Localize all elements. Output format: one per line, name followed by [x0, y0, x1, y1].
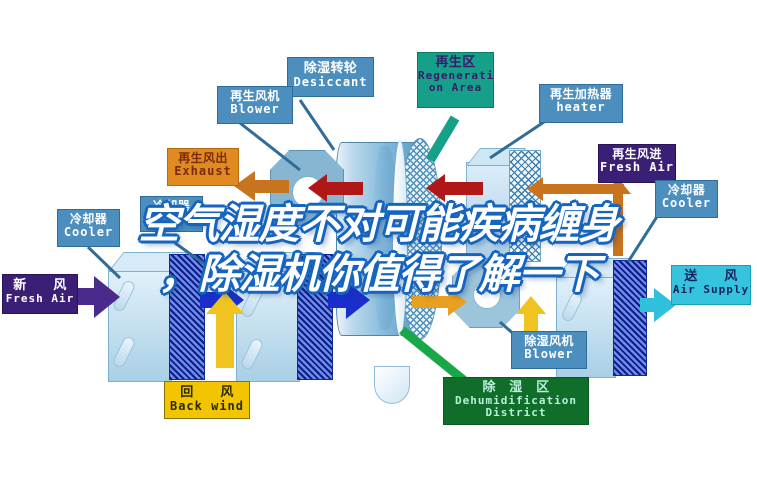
label-regen-exhaust-cn: 再生风出	[168, 152, 238, 165]
label-regen-heater: 再生加热器 heater	[539, 84, 623, 123]
label-regeneration-area: 再生区 Regenerati on Area	[417, 52, 494, 108]
leader-desiccant	[300, 100, 334, 150]
label-dehumid-blower-en: Blower	[512, 348, 586, 361]
label-back-wind: 回 风 Back wind	[164, 381, 250, 419]
caption-line-1: 空气湿度不对可能疾病缠身	[0, 199, 757, 249]
label-desiccant: 除湿转轮 Desiccant	[287, 57, 374, 97]
leader-regen-area	[430, 118, 455, 160]
dehumidifier-diagram-image: 除湿转轮 Desiccant 再生风机 Blower 再生区 Regenerat…	[0, 0, 757, 488]
condensate-drop-icon	[374, 366, 410, 404]
label-dehumid-blower-cn: 除湿风机	[512, 335, 586, 348]
label-regeneration-area-en-line2: on Area	[418, 82, 493, 94]
label-regeneration-area-cn: 再生区	[418, 55, 493, 70]
label-regen-fresh-air-en: Fresh Air	[599, 161, 675, 174]
label-dehumidification-district-en-line1: Dehumidification	[444, 395, 588, 407]
label-regen-blower-cn: 再生风机	[218, 90, 292, 103]
label-regen-heater-cn: 再生加热器	[540, 88, 622, 101]
label-dehumid-blower: 除湿风机 Blower	[511, 331, 587, 369]
label-dehumidification-district-cn: 除 湿 区	[444, 380, 588, 395]
label-back-wind-en: Back wind	[165, 400, 249, 413]
label-back-wind-cn: 回 风	[165, 385, 249, 400]
label-regen-fresh-air-cn: 再生风进	[599, 148, 675, 161]
label-regen-heater-en: heater	[540, 101, 622, 114]
label-cooler-right-cn: 冷却器	[656, 184, 717, 197]
label-desiccant-cn: 除湿转轮	[288, 61, 373, 76]
leader-dehumid-district	[402, 330, 466, 382]
label-dehumidification-district: 除 湿 区 Dehumidification District	[443, 377, 589, 425]
label-regeneration-area-en-line1: Regenerati	[418, 70, 493, 82]
label-desiccant-en: Desiccant	[288, 76, 373, 89]
headline-caption-overlay: 空气湿度不对可能疾病缠身 ，除湿机你值得了解一下	[0, 199, 757, 299]
label-regen-blower: 再生风机 Blower	[217, 86, 293, 124]
label-dehumidification-district-en-line2: District	[444, 407, 588, 419]
label-regen-blower-en: Blower	[218, 103, 292, 116]
label-regen-exhaust: 再生风出 Exhaust	[167, 148, 239, 186]
label-regen-fresh-air: 再生风进 Fresh Air	[598, 144, 676, 183]
caption-line-2: ，除湿机你值得了解一下	[0, 249, 757, 299]
label-regen-exhaust-en: Exhaust	[168, 165, 238, 178]
